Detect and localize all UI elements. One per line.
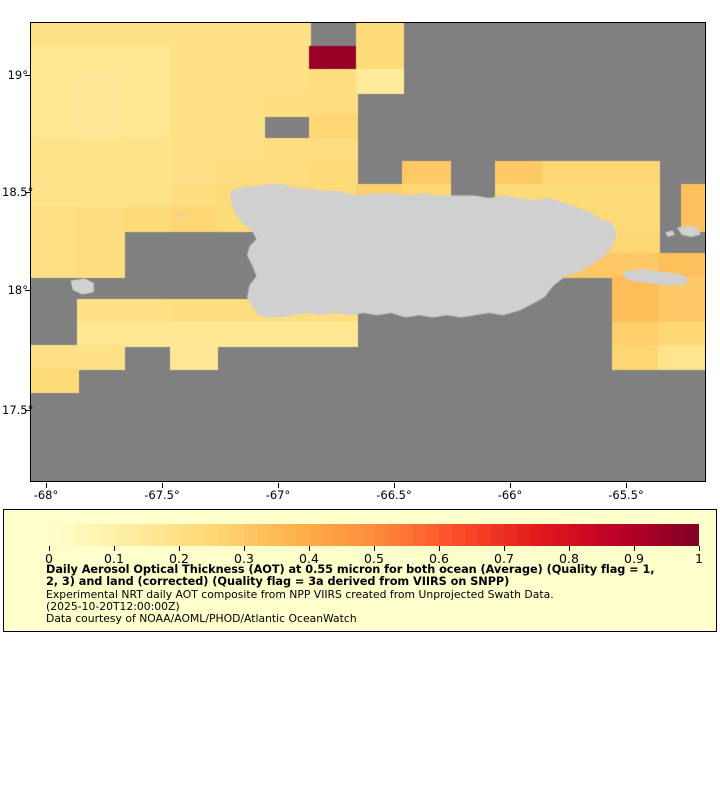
y-tick-label-0: 19° xyxy=(2,68,28,82)
legend-title-line2: 2, 3) and land (corrected) (Quality flag… xyxy=(46,576,706,588)
y-tick-label-2: 18° xyxy=(2,283,28,297)
y-tick-label-3: 17.5° xyxy=(2,403,28,417)
aot-heatmap-canvas[interactable] xyxy=(31,23,705,481)
legend-panel: 00.10.20.30.40.50.60.70.80.91 Daily Aero… xyxy=(3,509,717,632)
legend-sub-line3: Data courtesy of NOAA/AOML/PHOD/Atlantic… xyxy=(46,613,706,625)
x-tick-label-3: -66.5° xyxy=(364,488,424,502)
y-tick-label-1: 18.5° xyxy=(2,185,28,199)
map-plot-area[interactable] xyxy=(30,22,706,482)
x-tick-label-4: -66° xyxy=(480,488,540,502)
aot-map-page: 19° 18.5° 18° 17.5° -68° -67.5° -67° -66… xyxy=(0,0,720,800)
colorbar[interactable] xyxy=(49,524,699,546)
x-tick-label-2: -67° xyxy=(248,488,308,502)
legend-text-block: Daily Aerosol Optical Thickness (AOT) at… xyxy=(46,564,706,625)
colorbar-gradient[interactable] xyxy=(49,524,699,546)
x-tick-label-0: -68° xyxy=(16,488,76,502)
x-tick-label-1: -67.5° xyxy=(132,488,192,502)
x-tick-label-5: -65.5° xyxy=(596,488,656,502)
